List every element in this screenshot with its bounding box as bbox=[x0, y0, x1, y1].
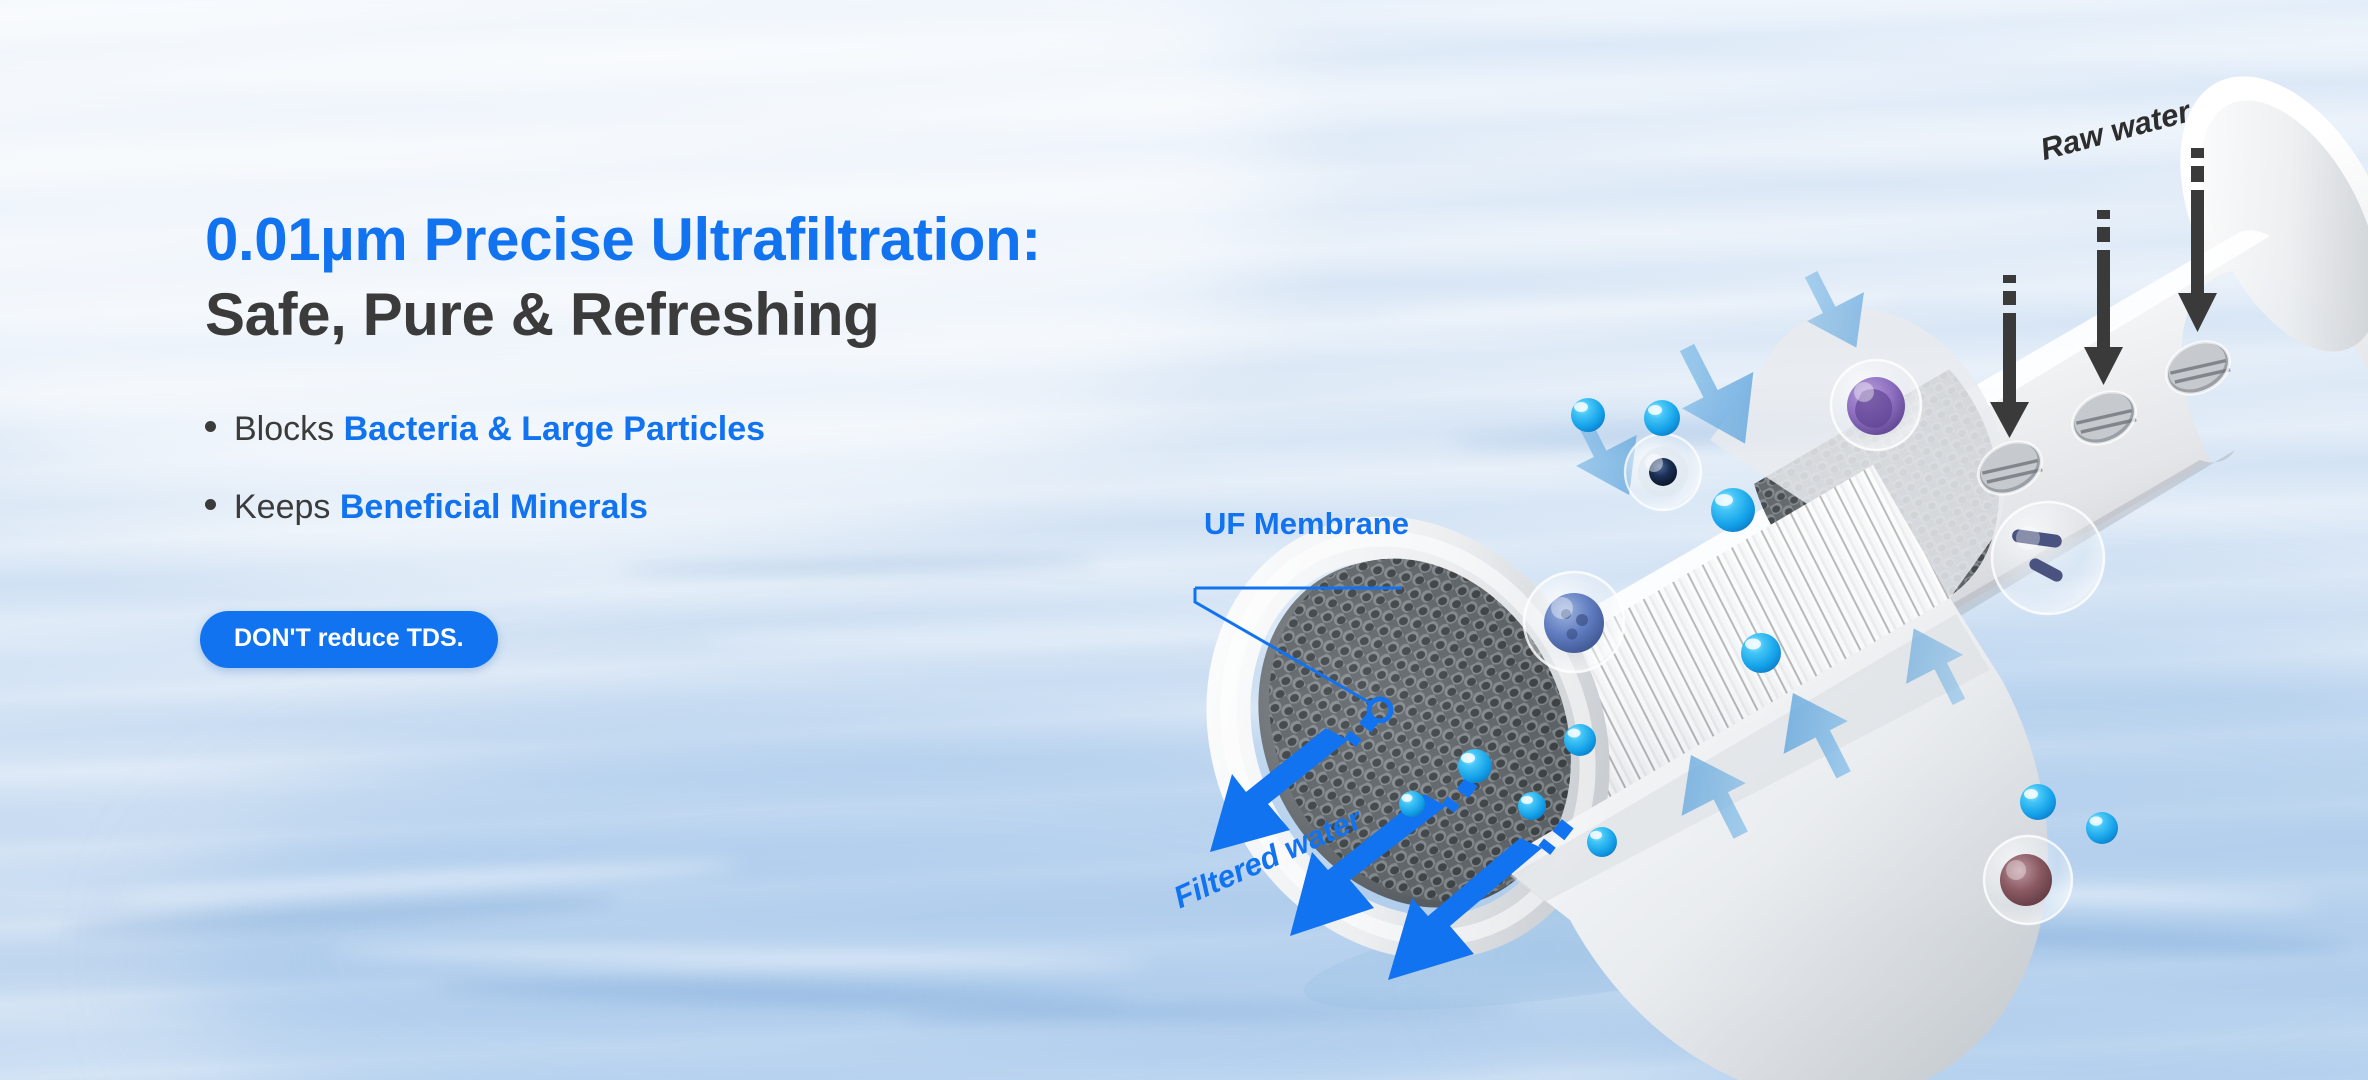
water-ripple bbox=[120, 857, 740, 905]
water-ripple bbox=[430, 976, 1130, 1012]
water-droplet bbox=[1518, 792, 1546, 820]
uf-membrane-banner: 0.01µm Precise Ultrafiltration: Safe, Pu… bbox=[0, 0, 2368, 1080]
rust-particle bbox=[1984, 836, 2072, 924]
bacteria-rod-particle bbox=[1992, 502, 2104, 614]
water-droplet bbox=[2020, 784, 2056, 820]
virus-particle bbox=[1831, 360, 1921, 450]
water-droplet bbox=[2086, 812, 2118, 844]
water-droplet bbox=[1458, 749, 1492, 783]
bullet-plain-text: Keeps bbox=[234, 488, 330, 526]
sediment-particle bbox=[1625, 434, 1701, 510]
water-ripple bbox=[60, 890, 620, 939]
headline-line-2: Safe, Pure & Refreshing bbox=[205, 280, 1385, 351]
headline-line-1: 0.01µm Precise Ultrafiltration: bbox=[205, 205, 1385, 276]
bullet-dot-icon bbox=[205, 499, 216, 510]
water-droplet bbox=[1571, 398, 1605, 432]
bullet-dot-icon bbox=[205, 421, 216, 432]
bullet-highlight-text: Beneficial Minerals bbox=[340, 488, 648, 526]
list-item: Blocks Bacteria & Large Particles bbox=[205, 407, 1385, 451]
water-droplet bbox=[1644, 400, 1680, 436]
status-badge-tds[interactable]: DON'T reduce TDS. bbox=[200, 611, 498, 668]
water-droplet bbox=[1564, 724, 1596, 756]
page-title: 0.01µm Precise Ultrafiltration: Safe, Pu… bbox=[205, 205, 1385, 351]
water-droplet bbox=[1399, 791, 1425, 817]
water-droplet bbox=[1587, 827, 1617, 857]
water-droplet bbox=[1741, 633, 1781, 673]
water-ripple bbox=[330, 943, 1150, 971]
water-droplet bbox=[1711, 488, 1755, 532]
algae-particle bbox=[1524, 572, 1624, 672]
text-column: 0.01µm Precise Ultrafiltration: Safe, Pu… bbox=[205, 205, 1385, 668]
bullet-highlight-text: Bacteria & Large Particles bbox=[344, 410, 765, 448]
bullet-plain-text: Blocks bbox=[234, 410, 334, 448]
uf-membrane-label: UF Membrane bbox=[1204, 506, 1409, 542]
